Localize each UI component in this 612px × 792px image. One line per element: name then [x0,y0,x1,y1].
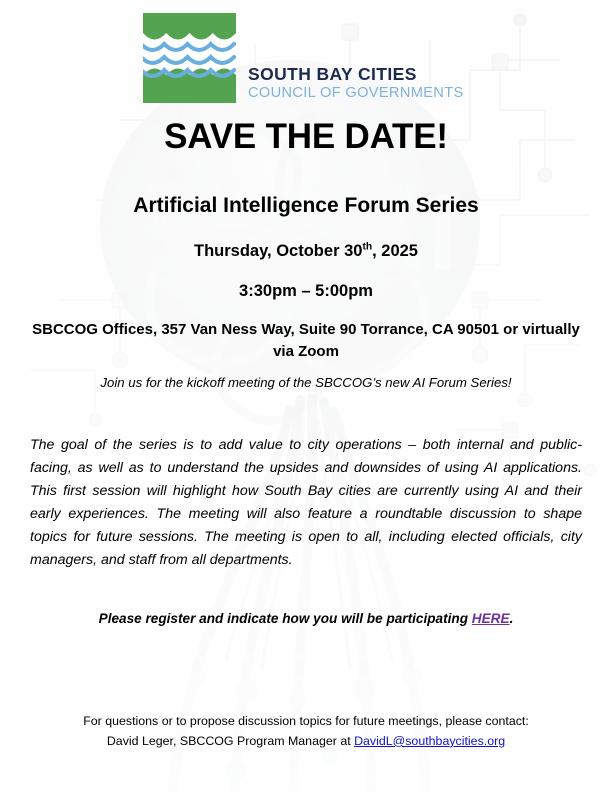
flyer-page: AI [0,0,612,792]
register-here-link[interactable]: HERE [472,611,510,626]
headline-save-the-date: SAVE THE DATE! [0,117,612,157]
footer-contact-lead: David Leger, SBCCOG Program Manager at [107,734,354,748]
registration-lead-text: Please register and indicate how you wil… [99,611,472,626]
flyer-content: SOUTH BAY CITIES COUNCIL OF GOVERNMENTS … [0,0,612,792]
event-tagline: Join us for the kickoff meeting of the S… [30,375,582,390]
logo-title-secondary: COUNCIL OF GOVERNMENTS [248,86,464,101]
event-date: Thursday, October 30th, 2025 [0,242,612,261]
waves-logo-icon [143,13,236,103]
registration-line: Please register and indicate how you wil… [30,611,582,626]
footer-line-2: David Leger, SBCCOG Program Manager at D… [30,732,582,752]
logo-wordmark: SOUTH BAY CITIES COUNCIL OF GOVERNMENTS [248,66,464,101]
event-date-prefix: Thursday, October 30 [194,242,362,260]
sbccog-logo: SOUTH BAY CITIES COUNCIL OF GOVERNMENTS [143,13,464,103]
event-description: The goal of the series is to add value t… [30,434,582,572]
event-date-ordinal: th [362,242,372,253]
event-date-suffix: , 2025 [372,242,418,260]
registration-trailing-text: . [510,611,514,626]
logo-title-primary: SOUTH BAY CITIES [248,66,464,84]
event-location: SBCCOG Offices, 357 Van Ness Way, Suite … [28,319,584,363]
contact-email-link[interactable]: DavidL@southbaycities.org [354,734,505,748]
footer-contact: For questions or to propose discussion t… [30,712,582,752]
event-time: 3:30pm – 5:00pm [0,282,612,301]
footer-line-1: For questions or to propose discussion t… [30,712,582,732]
subhead-forum-series: Artificial Intelligence Forum Series [0,194,612,218]
